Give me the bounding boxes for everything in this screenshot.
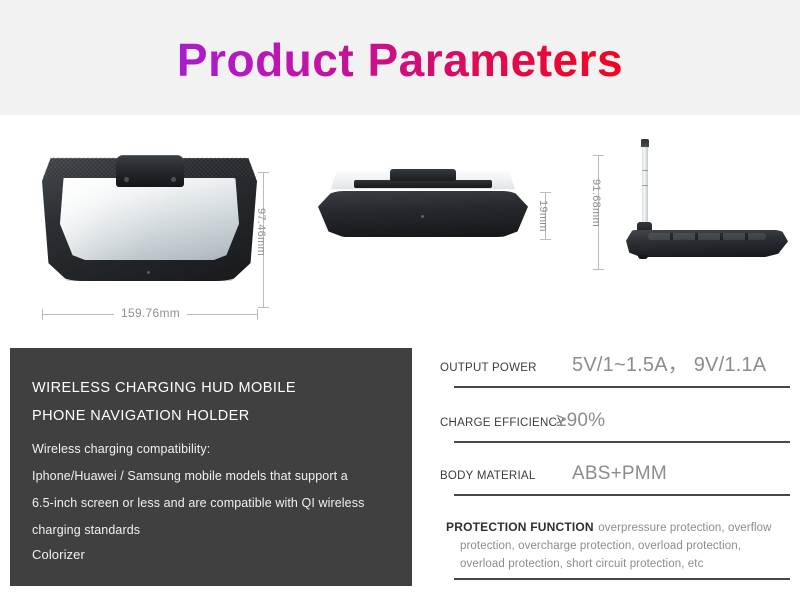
- hud-phone-clip: [116, 155, 184, 187]
- dimension-line-width-front: 159.76mm: [42, 314, 258, 315]
- description-title-line-2: PHONE NAVIGATION HOLDER: [32, 402, 390, 430]
- spec-divider: [454, 494, 790, 496]
- page-title: Product Parameters: [0, 32, 800, 88]
- side-reflector-screen: [642, 142, 648, 234]
- folded-indicator-dot: [421, 215, 424, 218]
- spec-label-output-power: OUTPUT POWER: [440, 362, 572, 374]
- product-front-view: 97.46mm 159.76mm: [30, 135, 270, 285]
- dimension-label-height-folded: 19mm: [537, 200, 549, 232]
- spec-row-body-material: BODY MATERIAL ABS+PMM: [440, 463, 792, 496]
- spec-value-protection-line-2: protection, overcharge protection, overl…: [440, 537, 792, 555]
- hud-indicator-dot: [147, 271, 150, 274]
- dimension-label-width-front: 159.76mm: [114, 306, 187, 320]
- product-folded-view: 19mm: [318, 153, 538, 268]
- hud-glass-sheen: [60, 178, 239, 260]
- description-line: charging standards: [32, 517, 390, 544]
- product-parameters-infographic: Product Parameters 97.46mm 159.76mm: [0, 0, 800, 600]
- dimension-label-height-side: 91.68mm: [590, 179, 602, 227]
- side-screen-tick: [642, 170, 648, 171]
- description-line: Wireless charging compatibility:: [32, 436, 390, 463]
- spec-value-protection-line-3: overload protection, short circuit prote…: [440, 555, 792, 573]
- spec-row-protection-function: PROTECTION FUNCTION overpressure protect…: [440, 518, 792, 580]
- spec-value-charge-efficiency: ≥90%: [556, 410, 605, 432]
- spec-label-charge-efficiency: CHARGE EFFICIENCY: [440, 417, 556, 429]
- hud-front-illustration: [42, 153, 257, 288]
- side-base-grooves: [648, 233, 766, 240]
- description-footer: Colorizer: [32, 544, 390, 566]
- product-side-view: 91.68mm: [612, 130, 792, 270]
- product-gallery: 97.46mm 159.76mm 19mm: [0, 115, 800, 330]
- spec-row-output-power: OUTPUT POWER 5V/1~1.5A， 9V/1.1A: [440, 348, 792, 388]
- spec-value-protection-line-1: overpressure protection, overflow: [598, 522, 771, 534]
- side-screen-tick: [642, 185, 648, 186]
- spec-divider: [454, 578, 790, 580]
- spec-row-charge-efficiency: CHARGE EFFICIENCY ≥90%: [440, 410, 792, 443]
- side-screen-cap: [641, 139, 649, 147]
- side-foot: [638, 255, 648, 259]
- description-panel: WIRELESS CHARGING HUD MOBILE PHONE NAVIG…: [10, 348, 412, 586]
- description-line: 6.5-inch screen or less and are compatib…: [32, 490, 390, 517]
- spec-label-body-material: BODY MATERIAL: [440, 470, 572, 482]
- dimension-label-height-front: 97.46mm: [255, 208, 267, 256]
- folded-base: [318, 191, 528, 237]
- dimension-line-height-folded: 19mm: [545, 192, 546, 240]
- spec-value-output-power: 5V/1~1.5A， 9V/1.1A: [572, 348, 766, 377]
- description-line: Iphone/Huawei / Samsung mobile models th…: [32, 463, 390, 490]
- header-band: Product Parameters: [0, 0, 800, 115]
- spec-value-body-material: ABS+PMM: [572, 463, 667, 485]
- description-title-line-1: WIRELESS CHARGING HUD MOBILE: [32, 374, 390, 402]
- spec-table: OUTPUT POWER 5V/1~1.5A， 9V/1.1A CHARGE E…: [440, 348, 792, 586]
- description-body: Wireless charging compatibility: Iphone/…: [32, 436, 390, 566]
- spec-divider: [454, 441, 790, 443]
- spec-label-protection-function: PROTECTION FUNCTION: [446, 520, 594, 534]
- spec-divider: [454, 386, 790, 388]
- folded-phone-clip: [390, 169, 456, 181]
- folded-rail: [354, 180, 492, 188]
- dimension-line-height-front: 97.46mm: [263, 172, 264, 308]
- dimension-line-height-side: 91.68mm: [598, 155, 599, 270]
